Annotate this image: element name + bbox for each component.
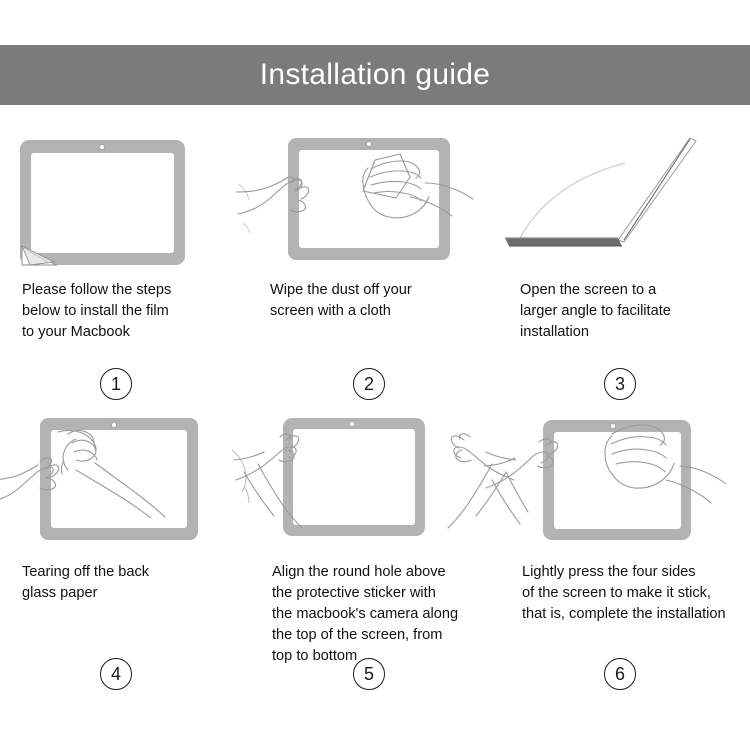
step-3-number-badge: 3 xyxy=(604,368,636,400)
step-1-number-badge: 1 xyxy=(100,368,132,400)
tablet-device-icon xyxy=(283,418,425,536)
step-card-3: Open the screen to a larger angle to fac… xyxy=(500,128,750,410)
step-1-caption: Please follow the steps below to install… xyxy=(22,280,246,343)
step-4-illustration xyxy=(0,410,250,550)
step-3-illustration xyxy=(500,128,750,268)
step-2-illustration xyxy=(250,128,500,268)
laptop-lid-icon xyxy=(618,138,696,242)
step-1-illustration xyxy=(0,128,250,268)
tablet-device-icon xyxy=(288,138,450,260)
step-6-illustration xyxy=(500,410,750,550)
step-2-caption: Wipe the dust off your screen with a clo… xyxy=(270,280,494,322)
step-card-2: Wipe the dust off your screen with a clo… xyxy=(250,128,500,410)
laptop-base-icon xyxy=(505,238,622,246)
page-title: Installation guide xyxy=(260,60,491,90)
step-5-illustration xyxy=(250,410,500,550)
step-4-number-badge: 4 xyxy=(100,658,132,690)
rotation-arc-icon xyxy=(520,163,625,238)
step-4-caption: Tearing off the back glass paper xyxy=(22,562,246,604)
step-2-number-badge: 2 xyxy=(353,368,385,400)
installation-steps-grid: Please follow the steps below to install… xyxy=(0,128,750,700)
step-6-caption: Lightly press the four sides of the scre… xyxy=(522,562,750,625)
step-card-6: Lightly press the four sides of the scre… xyxy=(500,410,750,700)
tablet-device-icon xyxy=(20,140,185,265)
step-card-5: Align the round hole above the protectiv… xyxy=(250,410,500,700)
step-5-number-badge: 5 xyxy=(353,658,385,690)
step-card-4: Tearing off the back glass paper 4 xyxy=(0,410,250,700)
step-6-number-badge: 6 xyxy=(604,658,636,690)
tablet-device-icon xyxy=(40,418,198,540)
page-header-band: Installation guide xyxy=(0,45,750,105)
step-3-caption: Open the screen to a larger angle to fac… xyxy=(520,280,744,343)
step-card-1: Please follow the steps below to install… xyxy=(0,128,250,410)
step-5-caption: Align the round hole above the protectiv… xyxy=(272,562,504,667)
